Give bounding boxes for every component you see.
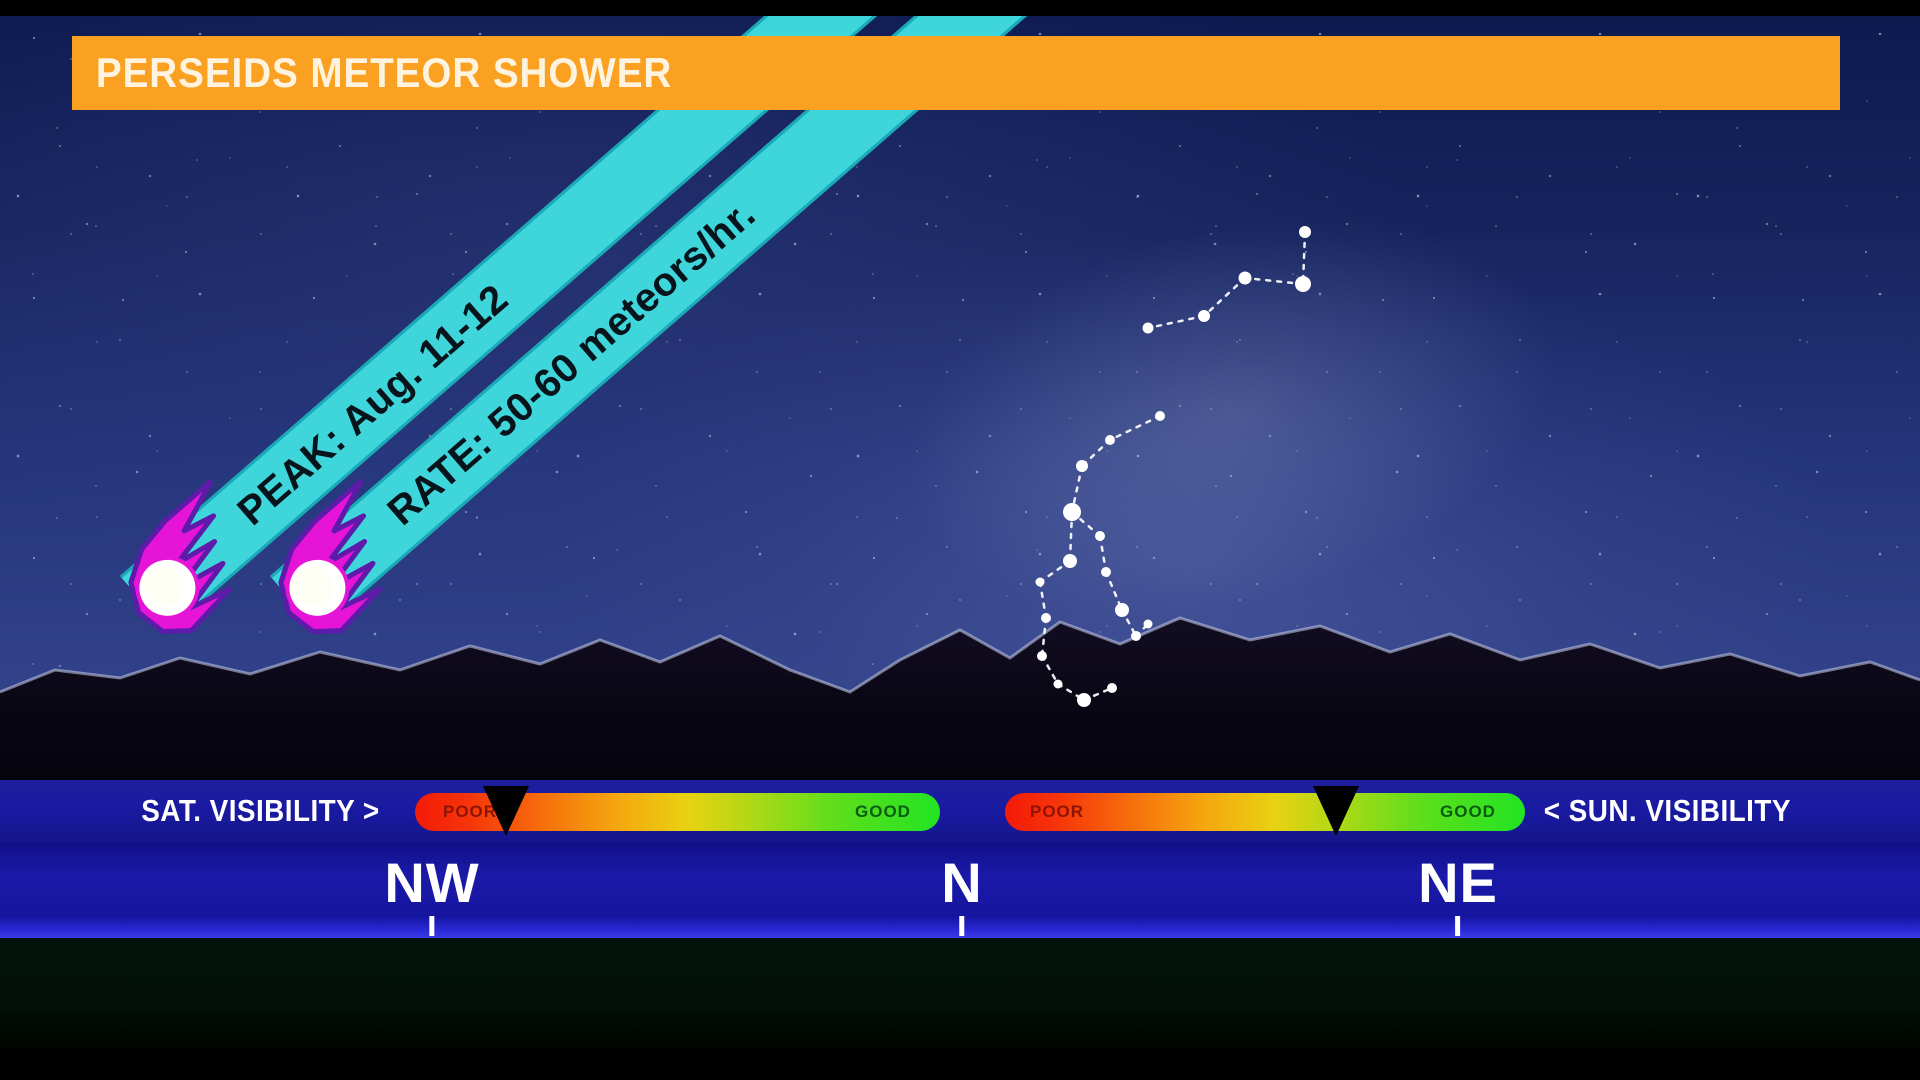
letterbox-top <box>0 0 1920 16</box>
compass-label-ne: NE <box>1418 854 1498 912</box>
compass-label-nw: NW <box>384 854 479 912</box>
compass-direction-nw: NW <box>384 854 479 936</box>
foreground-ground <box>0 938 1920 1050</box>
perseus-lines <box>1040 416 1160 700</box>
sun-visibility-label: < SUN. VISIBILITY <box>1544 793 1791 829</box>
constellation-overlay <box>0 16 1920 780</box>
sun-visibility-poor-label: POOR <box>1030 793 1084 831</box>
compass-tick-ne <box>1455 916 1460 936</box>
sun-visibility-good-label: GOOD <box>1440 793 1496 831</box>
letterbox-bottom <box>0 1050 1920 1080</box>
compass-tick-n <box>959 916 964 936</box>
sat-visibility-label: SAT. VISIBILITY > <box>141 793 379 829</box>
cassiopeia-lines <box>1148 232 1305 328</box>
compass-band: NW N NE <box>0 842 1920 938</box>
visibility-band: SAT. VISIBILITY > POOR GOOD POOR GOOD < … <box>0 780 1920 842</box>
sat-visibility-marker[interactable] <box>483 786 529 836</box>
sat-visibility-good-label: GOOD <box>855 793 911 831</box>
compass-tick-nw <box>429 916 434 936</box>
title-banner: PERSEIDS METEOR SHOWER <box>72 36 1840 110</box>
graphic-stage: Cassiopeia Perseus PEAK: Aug. 11-12 RATE… <box>0 0 1920 1080</box>
perseus-stars <box>1036 411 1166 707</box>
compass-direction-n: N <box>941 854 982 936</box>
cassiopeia-stars <box>1143 226 1312 334</box>
compass-direction-ne: NE <box>1418 854 1498 936</box>
sun-visibility-marker[interactable] <box>1313 786 1359 836</box>
page-title: PERSEIDS METEOR SHOWER <box>72 49 672 97</box>
compass-label-n: N <box>941 854 982 912</box>
